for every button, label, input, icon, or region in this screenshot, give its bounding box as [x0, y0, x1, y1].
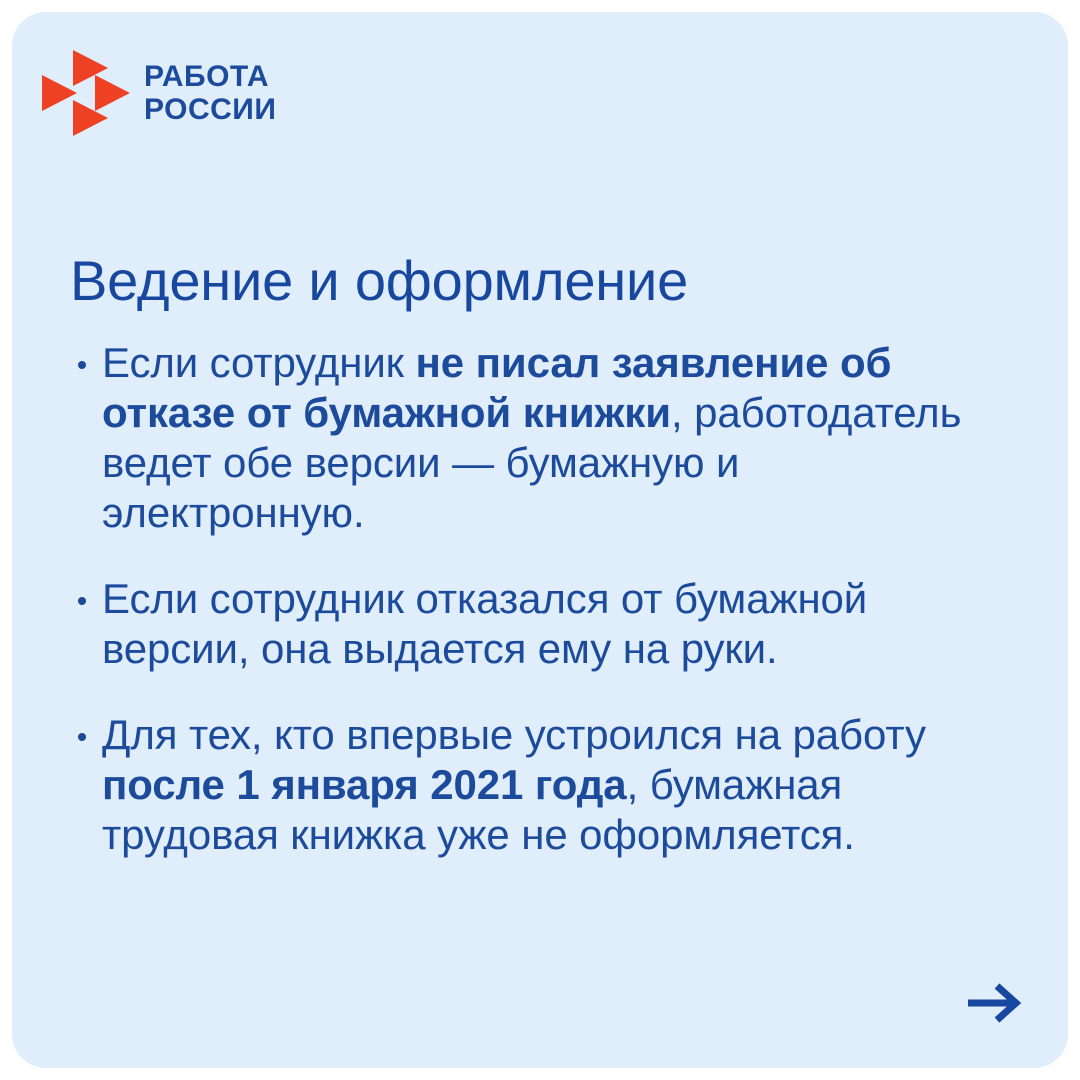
bullet-plain: Если сотрудник [102, 339, 416, 386]
slide-card: РАБОТА РОССИИ Ведение и оформление Если … [12, 12, 1068, 1068]
brand-logo[interactable]: РАБОТА РОССИИ [40, 44, 460, 144]
list-item: Для тех, кто впервые устроился на работу… [70, 710, 1000, 860]
four-triangles-pinwheel-icon [40, 48, 132, 140]
arrow-right-icon[interactable] [966, 980, 1022, 1026]
bullet-dot-icon [78, 733, 86, 741]
bullet-plain: Для тех, кто впервые устроился на работу [102, 711, 926, 758]
list-item: Если сотрудник не писал заявление об отк… [70, 338, 1000, 538]
bullet-list: Если сотрудник не писал заявление об отк… [70, 338, 1000, 860]
list-item: Если сотрудник отказался от бумажной вер… [70, 574, 1000, 674]
page-title: Ведение и оформление [70, 250, 1000, 312]
bullet-plain: Если сотрудник отказался от бумажной вер… [102, 575, 867, 672]
brand-wordmark-line-2: РОССИИ [144, 93, 276, 126]
bullet-text: Если сотрудник не писал заявление об отк… [102, 338, 1000, 538]
bullet-dot-icon [78, 361, 86, 369]
brand-wordmark: РАБОТА РОССИИ [144, 60, 276, 126]
bullet-emphasis: после 1 января 2021 года [102, 761, 627, 808]
bullet-dot-icon [78, 597, 86, 605]
slide-content: Ведение и оформление Если сотрудник не п… [70, 250, 1000, 860]
brand-wordmark-line-1: РАБОТА [144, 60, 276, 93]
bullet-text: Для тех, кто впервые устроился на работу… [102, 710, 1000, 860]
bullet-text: Если сотрудник отказался от бумажной вер… [102, 574, 1000, 674]
